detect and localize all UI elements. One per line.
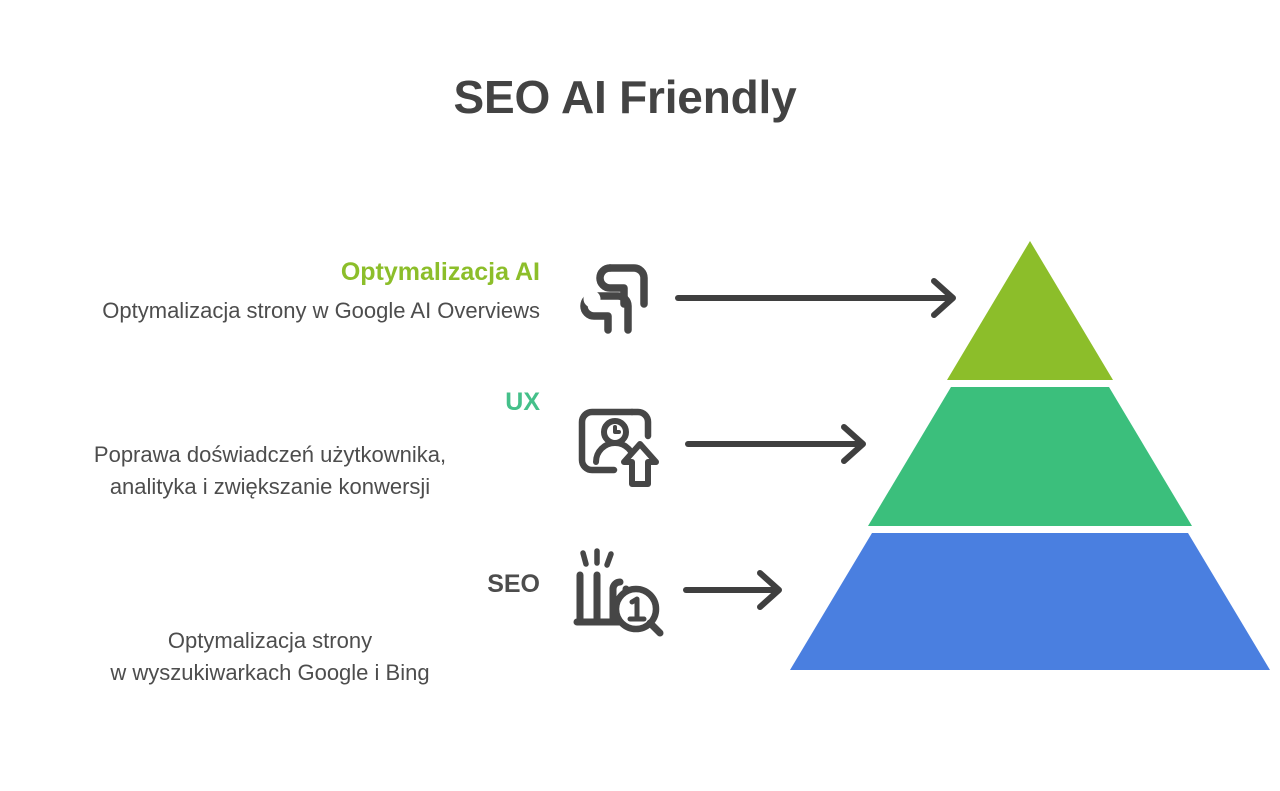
row-ux-label: UX xyxy=(0,388,540,417)
row-ux-text-block: UX Poprawa doświadczeń użytkownika, anal… xyxy=(0,388,540,503)
row-ai-label: Optymalizacja AI xyxy=(0,258,540,287)
pyramid-tier-middle xyxy=(868,387,1192,526)
row-ux-description: Poprawa doświadczeń użytkownika, anality… xyxy=(0,439,540,503)
row-seo-description: Optymalizacja strony w wyszukiwarkach Go… xyxy=(0,625,540,689)
row-seo-label: SEO xyxy=(0,570,540,599)
ai-nodes-icon xyxy=(572,252,662,342)
pyramid-tier-top xyxy=(947,241,1113,380)
user-upgrade-icon xyxy=(570,402,660,492)
row-seo-text-block: SEO Optymalizacja strony w wyszukiwarkac… xyxy=(0,570,540,689)
slide-canvas: SEO AI Friendly Optymalizacja AI Optymal… xyxy=(0,0,1280,791)
ranking-search-icon xyxy=(566,543,656,633)
row-ux-description-line-2: analityka i zwiększanie konwersji xyxy=(0,471,540,503)
row-seo-description-line-1: Optymalizacja strony xyxy=(0,625,540,657)
page-title: SEO AI Friendly xyxy=(0,70,1250,124)
row-ai-description: Optymalizacja strony w Google AI Overvie… xyxy=(0,295,540,327)
row-ux-description-line-1: Poprawa doświadczeń użytkownika, xyxy=(0,439,540,471)
pyramid-tier-bottom xyxy=(790,533,1270,670)
row-seo-description-line-2: w wyszukiwarkach Google i Bing xyxy=(0,657,540,689)
three-tier-pyramid xyxy=(770,230,1280,690)
row-ai-text-block: Optymalizacja AI Optymalizacja strony w … xyxy=(0,258,540,327)
